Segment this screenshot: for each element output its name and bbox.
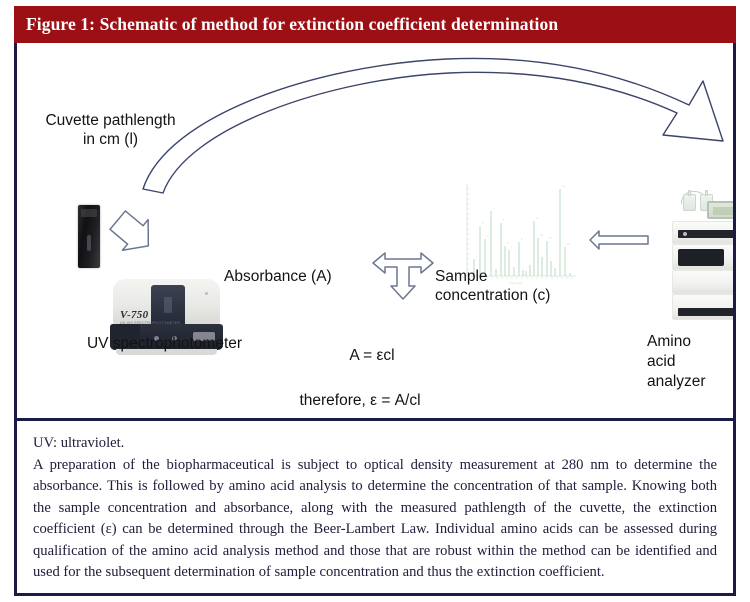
label-cuvette-pathlength: Cuvette pathlength in cm (l) (18, 111, 203, 149)
cuvette-window (87, 235, 91, 251)
label-amino-acid-analyzer: Amino acid analyzer (647, 332, 733, 392)
label-sample-concentration: Sample concentration (c) (435, 267, 580, 305)
spectrophotometer-model-label: V-750 (120, 309, 148, 321)
svg-text:2: 2 (482, 221, 484, 225)
caption-abbreviation: UV: ultraviolet. (33, 433, 717, 455)
spectrophotometer-indicator (205, 292, 208, 295)
analyzer-module-2-face (678, 249, 724, 266)
analyzer-module-1-dial (683, 232, 687, 236)
svg-text:13: 13 (567, 242, 570, 246)
analyzer-module-3 (672, 270, 733, 294)
svg-text:8: 8 (521, 237, 523, 241)
cuvette-cap (81, 209, 97, 217)
svg-text:5: 5 (503, 218, 505, 222)
figure-title-bar: Figure 1: Schematic of method for extinc… (14, 6, 736, 43)
svg-text:12: 12 (562, 184, 565, 188)
label-uv-spectrophotometer: UV spectrophotometer (57, 334, 272, 353)
figure-title: Figure 1: Schematic of method for extinc… (14, 14, 558, 35)
figure-panel: Figure 1: Schematic of method for extinc… (0, 0, 750, 602)
amino-acid-analyzer-image (667, 191, 733, 326)
figure-caption-divider (14, 418, 736, 421)
svg-text:1: 1 (476, 254, 478, 258)
analyzer-module-4 (672, 294, 733, 320)
spectrophotometer-sub-label: UV-VIS SPECTROPHOTOMETER (120, 321, 180, 325)
caption-body: A preparation of the biopharmaceutical i… (33, 455, 717, 584)
svg-text:11: 11 (549, 236, 552, 240)
svg-text:7: 7 (511, 245, 513, 249)
cuvette-to-spectrophotometer-arrow (105, 205, 161, 261)
label-absorbance: Absorbance (A) (224, 267, 369, 286)
svg-text:9: 9 (536, 216, 538, 220)
svg-text:6: 6 (507, 241, 509, 245)
equation-derived: therefore, ε = A/cl (260, 391, 460, 410)
figure-caption: UV: ultraviolet. A preparation of the bi… (17, 424, 733, 593)
analyzer-to-chromatogram-arrow (590, 231, 648, 249)
cuvette-image (78, 205, 100, 268)
analyzer-module-4-face (678, 308, 733, 316)
svg-text:3: 3 (487, 234, 489, 238)
absorbance-concentration-tri-arrow (373, 253, 433, 299)
equation-primary: A = εcl (317, 346, 427, 365)
analyzer-display-screen (707, 201, 733, 219)
svg-text:4: 4 (493, 206, 495, 210)
chromatogram-peak-labels: 123 456 789 101112 13 (476, 184, 570, 258)
svg-text:10: 10 (540, 233, 543, 237)
schematic-area: V-750 UV-VIS SPECTROPHOTOMETER (17, 43, 733, 418)
cuvette-to-analyzer-curved-arrow (143, 58, 723, 193)
analyzer-solvent-bottle-1 (683, 194, 696, 211)
chromatogram-peaks (474, 189, 570, 276)
